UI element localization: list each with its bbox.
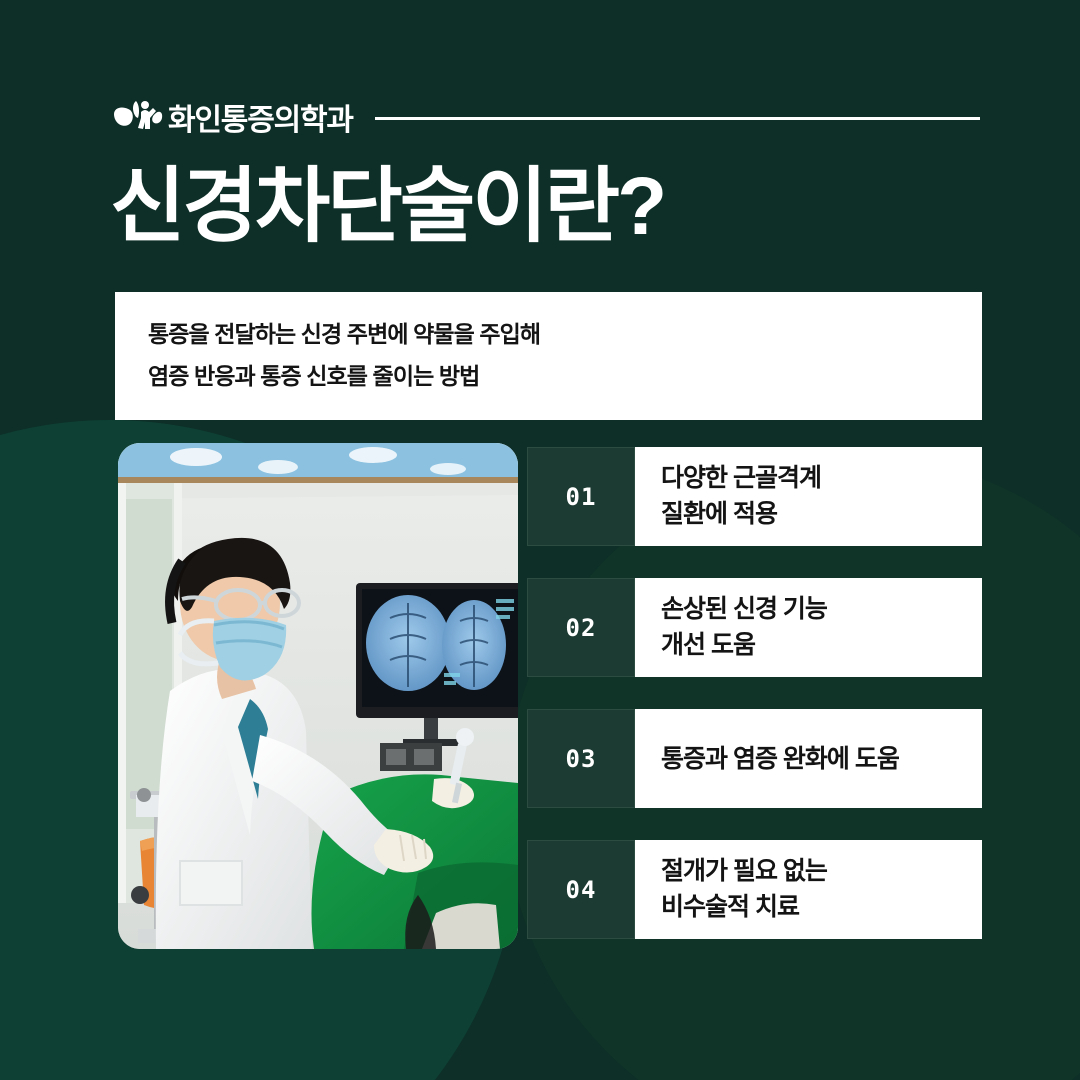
photo-illustration <box>118 443 518 949</box>
feature-line: 다양한 근골격계 <box>661 461 982 497</box>
header-divider <box>375 117 980 120</box>
description-line-2: 염증 반응과 통증 신호를 줄이는 방법 <box>148 356 982 398</box>
feature-row: 03 통증과 염증 완화에 도움 <box>527 709 982 808</box>
feature-text: 손상된 신경 기능 개선 도움 <box>635 578 982 677</box>
leaf-person-icon <box>112 100 164 134</box>
feature-row: 02 손상된 신경 기능 개선 도움 <box>527 578 982 677</box>
feature-number-badge: 04 <box>527 840 635 939</box>
feature-line: 통증과 염증 완화에 도움 <box>661 744 982 774</box>
description-panel: 통증을 전달하는 신경 주변에 약물을 주입해 염증 반응과 통증 신호를 줄이… <box>115 292 982 420</box>
feature-line: 개선 도움 <box>661 628 982 664</box>
page-title: 신경차단술이란? <box>110 163 664 252</box>
feature-text: 절개가 필요 없는 비수술적 치료 <box>635 840 982 939</box>
feature-line: 절개가 필요 없는 <box>661 854 982 890</box>
feature-list: 01 다양한 근골격계 질환에 적용 02 손상된 신경 기능 개선 도움 03… <box>527 447 982 939</box>
feature-number-badge: 02 <box>527 578 635 677</box>
feature-number-badge: 03 <box>527 709 635 808</box>
feature-number-badge: 01 <box>527 447 635 546</box>
feature-row: 01 다양한 근골격계 질환에 적용 <box>527 447 982 546</box>
description-line-1: 통증을 전달하는 신경 주변에 약물을 주입해 <box>148 314 982 356</box>
feature-line: 손상된 신경 기능 <box>661 592 982 628</box>
brand-name: 화인통증의학과 <box>168 95 353 139</box>
feature-line: 비수술적 치료 <box>661 890 982 926</box>
feature-text: 통증과 염증 완화에 도움 <box>635 709 982 808</box>
feature-line: 질환에 적용 <box>661 497 982 533</box>
infographic-card: 화인통증의학과 신경차단술이란? 통증을 전달하는 신경 주변에 약물을 주입해… <box>0 0 1080 1080</box>
feature-row: 04 절개가 필요 없는 비수술적 치료 <box>527 840 982 939</box>
feature-text: 다양한 근골격계 질환에 적용 <box>635 447 982 546</box>
clinical-photo <box>118 443 518 949</box>
brand-header: 화인통증의학과 <box>112 96 980 138</box>
